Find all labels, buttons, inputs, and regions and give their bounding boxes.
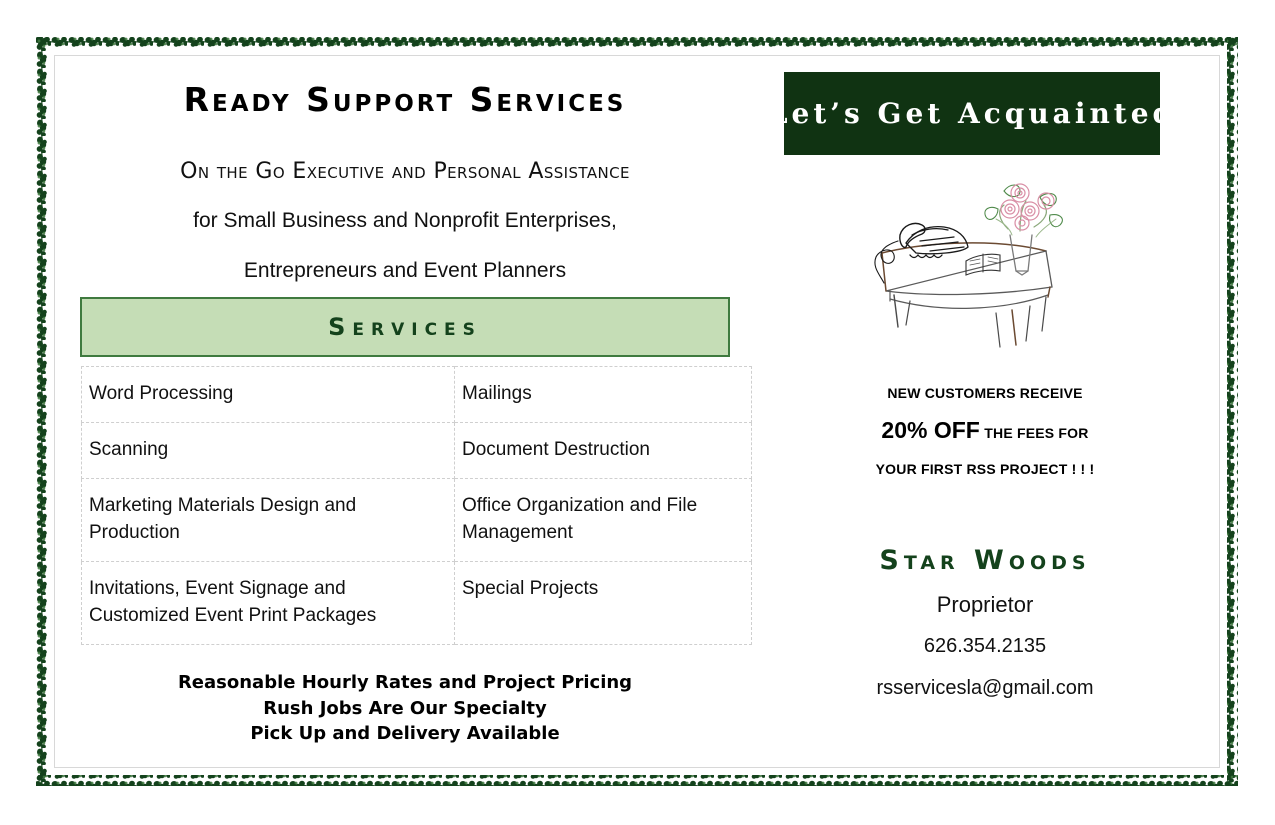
services-header-bar: Services [80, 297, 730, 357]
table-row: Marketing Materials Design and Productio… [82, 478, 752, 561]
service-cell: Invitations, Event Signage and Customize… [82, 561, 455, 644]
banner-label: Let’s Get Acquainted [768, 97, 1176, 130]
lets-get-acquainted-banner: Let’s Get Acquainted [784, 72, 1160, 155]
offer-percent-suffix: THE FEES FOR [984, 425, 1088, 441]
desk-with-telephone-and-roses-illustration [870, 175, 1080, 375]
tagline-line-3: Entrepreneurs and Event Planners [70, 259, 740, 283]
flyer-page: Ready Support Services On the Go Executi… [0, 0, 1275, 825]
service-cell: Mailings [455, 367, 752, 423]
services-header-label: Services [328, 313, 482, 341]
tagline-line-1: On the Go Executive and Personal Assista… [70, 159, 740, 184]
owner-role: Proprietor [770, 592, 1200, 618]
contact-block: Star Woods Proprietor 626.354.2135 rsser… [770, 545, 1200, 700]
offer-line-3: YOUR FIRST RSS PROJECT ! ! ! [770, 461, 1200, 477]
promise-line: Rush Jobs Are Our Specialty [80, 696, 730, 722]
offer-line-1: NEW CUSTOMERS RECEIVE [770, 385, 1200, 401]
company-title: Ready Support Services [70, 80, 740, 119]
service-cell: Special Projects [455, 561, 752, 644]
table-row: Word Processing Mailings [82, 367, 752, 423]
offer-line-2: 20% OFF THE FEES FOR [770, 417, 1200, 444]
owner-name: Star Woods [770, 545, 1200, 576]
promise-line: Pick Up and Delivery Available [80, 721, 730, 747]
offer-block: NEW CUSTOMERS RECEIVE 20% OFF THE FEES F… [770, 385, 1200, 477]
service-cell: Word Processing [82, 367, 455, 423]
table-row: Invitations, Event Signage and Customize… [82, 561, 752, 644]
owner-email[interactable]: rsservicesla@gmail.com [770, 677, 1200, 700]
services-table: Word Processing Mailings Scanning Docume… [81, 366, 752, 645]
service-cell: Marketing Materials Design and Productio… [82, 478, 455, 561]
right-column: Let’s Get Acquainted [770, 60, 1220, 760]
promise-line: Reasonable Hourly Rates and Project Pric… [80, 670, 730, 696]
service-cell: Office Organization and File Management [455, 478, 752, 561]
service-cell: Document Destruction [455, 422, 752, 478]
owner-phone[interactable]: 626.354.2135 [770, 635, 1200, 658]
tagline-line-2: for Small Business and Nonprofit Enterpr… [70, 209, 740, 233]
service-cell: Scanning [82, 422, 455, 478]
table-row: Scanning Document Destruction [82, 422, 752, 478]
offer-percent: 20% OFF [881, 417, 979, 443]
left-column: Ready Support Services On the Go Executi… [70, 70, 740, 750]
promises-block: Reasonable Hourly Rates and Project Pric… [80, 670, 730, 747]
